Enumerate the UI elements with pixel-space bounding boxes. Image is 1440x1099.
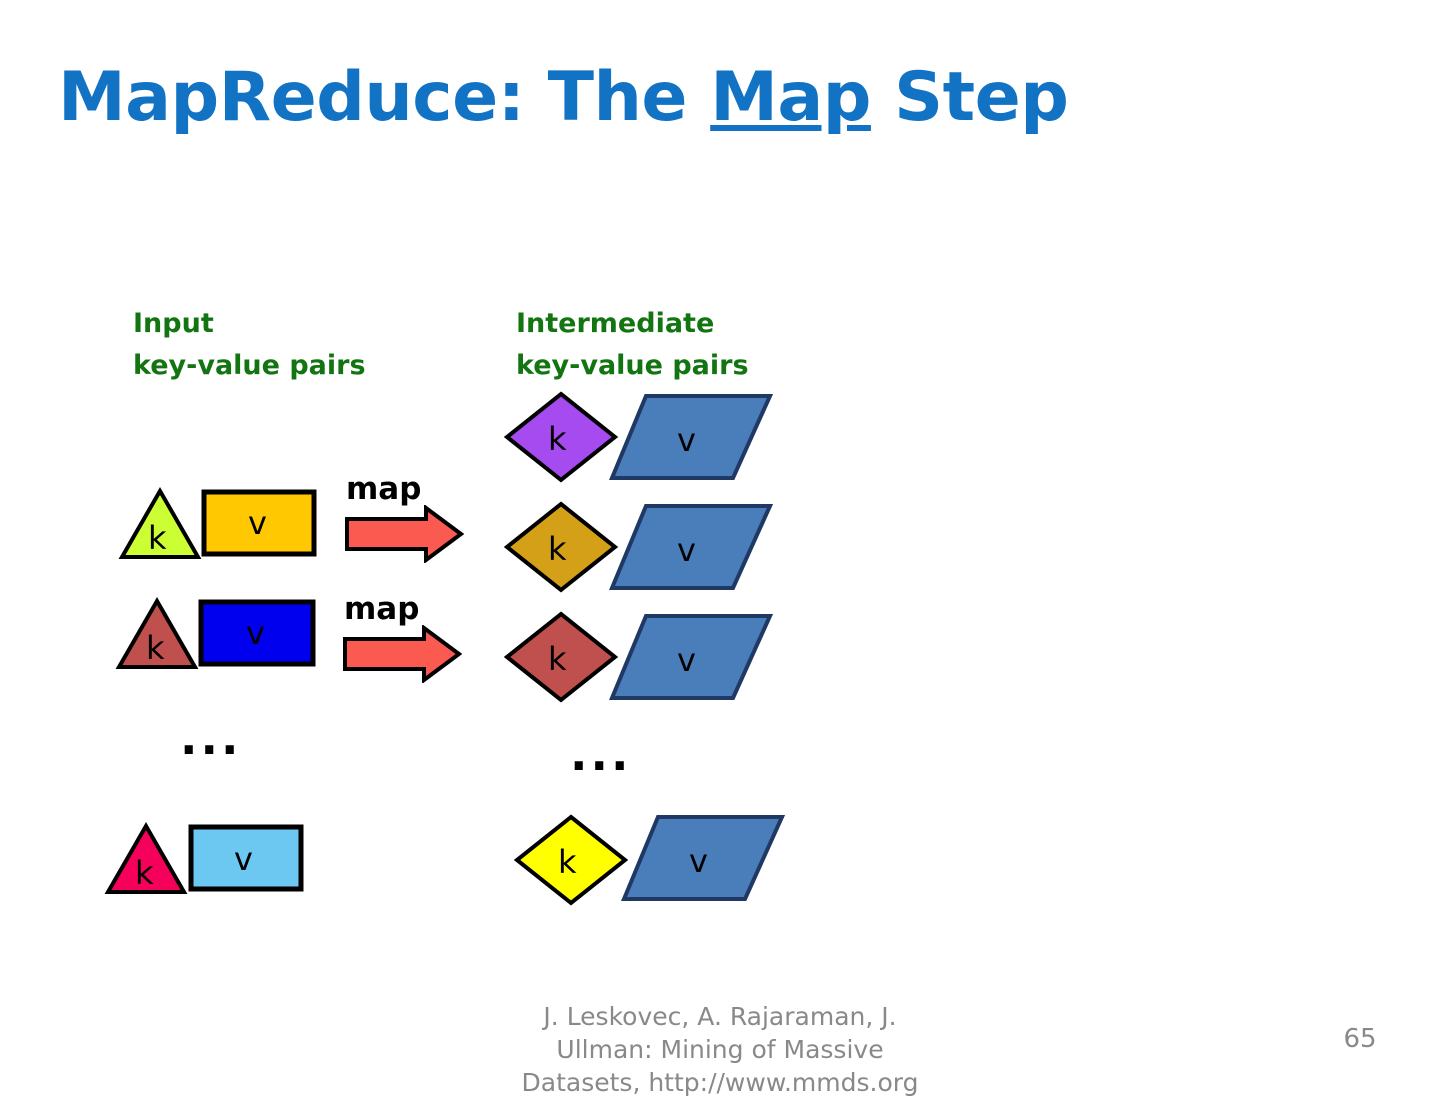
intermediate-ellipsis: ... (570, 731, 631, 777)
page-title: MapReduce: The Map Step (58, 62, 1388, 133)
slide-canvas: MapReduce: The Map Step Input key-value … (0, 0, 1440, 1080)
input-key-triangle-3 (104, 822, 188, 896)
input-ellipsis: ... (180, 715, 241, 761)
title-suffix: Step (871, 58, 1068, 137)
intermediate-value-parallelogram-3 (608, 612, 774, 704)
input-value-rect-1 (201, 489, 317, 557)
footer-line-3: Datasets, http://www.mmds.org (420, 1066, 1020, 1099)
page-number: 65 (1330, 1024, 1390, 1054)
title-prefix: MapReduce: The (58, 58, 710, 137)
intermediate-value-parallelogram-4 (620, 813, 786, 905)
intermediate-key-diamond-3 (503, 610, 619, 704)
input-value-rect-2 (198, 599, 316, 667)
footer-citation: J. Leskovec, A. Rajaraman, J. Ullman: Mi… (420, 1000, 1020, 1099)
intermediate-value-parallelogram-2 (608, 502, 774, 594)
map-arrow-label-1: map (346, 471, 421, 507)
intermediate-column-caption: Intermediate key-value pairs (516, 303, 749, 387)
footer-line-1: J. Leskovec, A. Rajaraman, J. (420, 1000, 1020, 1033)
input-key-triangle-1 (118, 487, 202, 561)
intermediate-key-diamond-2 (503, 500, 619, 594)
title-underlined-word: Map (710, 58, 871, 137)
input-key-triangle-2 (115, 597, 199, 671)
intermediate-key-diamond-1 (503, 390, 619, 484)
map-arrow-1 (344, 505, 464, 563)
input-value-rect-3 (188, 824, 304, 892)
map-arrow-label-2: map (344, 591, 419, 627)
intermediate-key-diamond-4 (513, 813, 629, 907)
footer-line-2: Ullman: Mining of Massive (420, 1033, 1020, 1066)
intermediate-value-parallelogram-1 (608, 392, 774, 484)
input-column-caption: Input key-value pairs (133, 303, 366, 387)
map-arrow-2 (342, 625, 462, 683)
